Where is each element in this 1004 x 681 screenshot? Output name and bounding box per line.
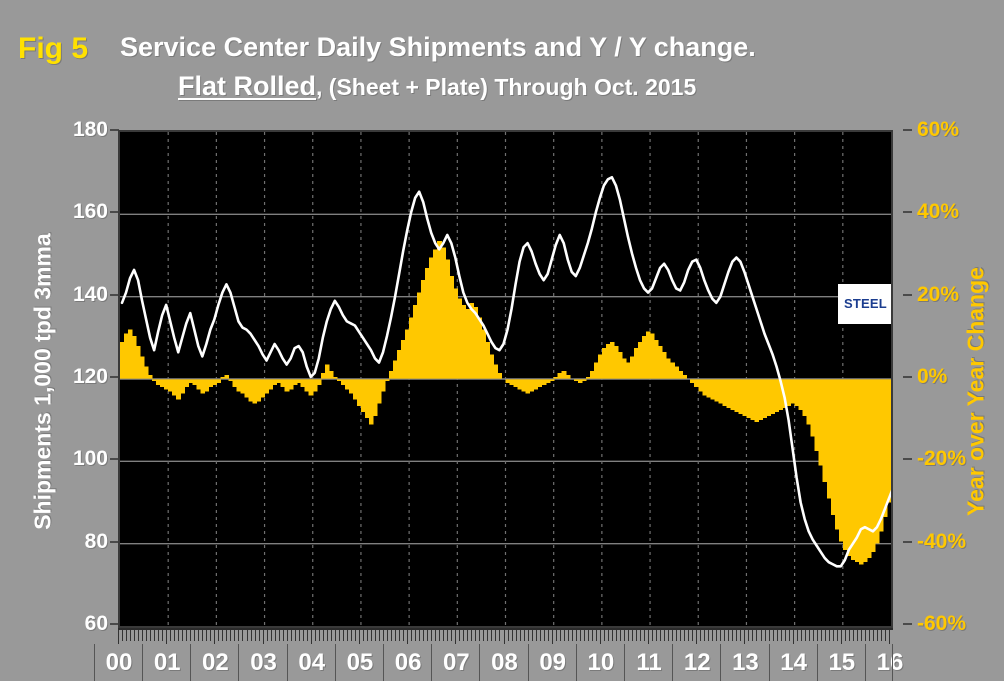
x-minor-tick xyxy=(251,630,252,641)
x-minor-tick xyxy=(447,630,448,641)
x-axis-rule xyxy=(118,628,893,630)
x-minor-tick xyxy=(628,630,629,641)
x-minor-tick xyxy=(479,630,480,641)
x-minor-tick xyxy=(170,630,171,641)
x-minor-tick xyxy=(451,630,452,641)
x-minor-tick xyxy=(684,630,685,641)
x-minor-tick xyxy=(704,630,705,641)
x-minor-tick xyxy=(335,630,336,641)
x-minor-tick xyxy=(174,630,175,641)
x-minor-tick xyxy=(881,630,882,641)
x-minor-tick xyxy=(443,630,444,641)
x-minor-tick xyxy=(186,630,187,641)
x-minor-tick xyxy=(692,630,693,641)
x-minor-tick xyxy=(399,630,400,641)
x-minor-tick xyxy=(712,630,713,641)
x-minor-tick xyxy=(234,630,235,641)
logo-word-steel: STEEL xyxy=(844,296,887,311)
x-tick-label-06: 06 xyxy=(383,644,432,681)
x-tick-label-10: 10 xyxy=(576,644,625,681)
x-minor-tick xyxy=(118,630,119,644)
x-minor-tick xyxy=(146,630,147,641)
right-tick--60pct: -60% xyxy=(917,613,966,634)
x-minor-tick xyxy=(644,630,645,641)
x-minor-tick xyxy=(877,630,878,641)
x-minor-tick xyxy=(130,630,131,641)
x-minor-tick xyxy=(315,630,316,641)
x-minor-tick xyxy=(435,630,436,641)
x-minor-tick xyxy=(150,630,151,641)
x-minor-tick xyxy=(632,630,633,641)
x-minor-tick xyxy=(495,630,496,641)
left-tick-140: 140 xyxy=(73,284,108,305)
x-minor-tick xyxy=(226,630,227,641)
right-tickmark xyxy=(903,294,912,296)
right-tickmark xyxy=(903,541,912,543)
x-minor-tick xyxy=(536,630,537,641)
x-minor-tick xyxy=(596,630,597,641)
x-minor-tick xyxy=(411,630,412,641)
x-minor-tick xyxy=(841,630,842,644)
x-minor-tick xyxy=(592,630,593,641)
x-minor-tick xyxy=(210,630,211,641)
x-minor-tick xyxy=(166,630,167,644)
x-minor-tick xyxy=(817,630,818,641)
x-minor-tick xyxy=(319,630,320,641)
right-tickmark xyxy=(903,211,912,213)
right-tick-0pct: 0% xyxy=(917,366,947,387)
x-minor-tick xyxy=(154,630,155,641)
x-tick-label-03: 03 xyxy=(238,644,287,681)
x-minor-tick xyxy=(773,630,774,641)
x-minor-tick xyxy=(676,630,677,641)
x-minor-tick xyxy=(367,630,368,641)
x-minor-tick xyxy=(600,630,601,644)
x-minor-tick xyxy=(190,630,191,641)
x-minor-tick xyxy=(680,630,681,641)
x-minor-tick xyxy=(299,630,300,641)
x-minor-tick xyxy=(275,630,276,641)
x-minor-tick xyxy=(238,630,239,641)
x-minor-tick xyxy=(865,630,866,641)
x-minor-tick xyxy=(777,630,778,641)
x-minor-tick xyxy=(833,630,834,641)
x-axis: 0001020304050607080910111213141516 xyxy=(118,628,893,681)
chart-subtitle-rest: , (Sheet + Plate) Through Oct. 2015 xyxy=(316,74,696,100)
x-axis-end-border xyxy=(892,644,893,681)
x-minor-tick xyxy=(660,630,661,641)
x-minor-tick xyxy=(138,630,139,641)
x-minor-tick xyxy=(740,630,741,641)
x-minor-tick xyxy=(343,630,344,641)
x-minor-tick xyxy=(431,630,432,641)
x-minor-tick xyxy=(608,630,609,641)
x-minor-tick xyxy=(516,630,517,641)
x-minor-tick xyxy=(724,630,725,641)
x-minor-tick xyxy=(126,630,127,641)
x-minor-tick xyxy=(279,630,280,641)
x-minor-tick xyxy=(255,630,256,641)
x-minor-tick xyxy=(391,630,392,641)
left-tick-100: 100 xyxy=(73,448,108,469)
x-tick-label-08: 08 xyxy=(479,644,528,681)
x-minor-tick xyxy=(198,630,199,641)
x-minor-tick xyxy=(247,630,248,641)
x-minor-tick xyxy=(271,630,272,641)
x-minor-tick xyxy=(504,630,505,644)
x-minor-tick xyxy=(162,630,163,641)
x-minor-tick xyxy=(395,630,396,641)
right-tick--40pct: -40% xyxy=(917,531,966,552)
x-minor-tick xyxy=(688,630,689,641)
x-minor-tick xyxy=(158,630,159,641)
x-minor-tick xyxy=(588,630,589,641)
x-minor-tick xyxy=(781,630,782,641)
x-minor-tick xyxy=(222,630,223,641)
x-tick-label-14: 14 xyxy=(769,644,818,681)
x-minor-tick xyxy=(242,630,243,641)
x-minor-tick xyxy=(419,630,420,641)
x-minor-tick xyxy=(202,630,203,641)
x-minor-tick xyxy=(548,630,549,641)
right-tick-20pct: 20% xyxy=(917,284,959,305)
x-minor-tick xyxy=(259,630,260,641)
x-minor-tick xyxy=(664,630,665,641)
x-minor-tick xyxy=(363,630,364,641)
plot-area: STEEL MARKET UPDATE Shipments 3MMA Y/Y C… xyxy=(118,130,893,628)
x-minor-tick xyxy=(552,630,553,644)
x-minor-tick xyxy=(303,630,304,641)
chart-subtitle-emphasis: Flat Rolled xyxy=(178,71,316,101)
x-minor-tick xyxy=(267,630,268,641)
x-minor-tick xyxy=(716,630,717,641)
x-minor-tick xyxy=(857,630,858,641)
title-block: Fig 5 Service Center Daily Shipments and… xyxy=(0,14,1004,100)
x-minor-tick xyxy=(853,630,854,641)
x-minor-tick xyxy=(861,630,862,641)
logo-text: STEEL MARKET UPDATE xyxy=(844,296,893,311)
x-minor-tick xyxy=(463,630,464,641)
x-minor-tick xyxy=(761,630,762,641)
chart-title-line-2: Flat Rolled, (Sheet + Plate) Through Oct… xyxy=(178,71,696,102)
x-minor-tick xyxy=(295,630,296,641)
x-minor-tick xyxy=(612,630,613,641)
x-minor-tick xyxy=(142,630,143,641)
x-minor-tick xyxy=(744,630,745,644)
x-minor-tick xyxy=(415,630,416,641)
x-minor-tick xyxy=(584,630,585,641)
right-tick-60pct: 60% xyxy=(917,119,959,140)
x-axis-minor-ticks xyxy=(118,628,893,644)
x-minor-tick xyxy=(218,630,219,641)
x-minor-tick xyxy=(797,630,798,641)
x-minor-tick xyxy=(283,630,284,641)
x-minor-tick xyxy=(889,630,890,644)
x-tick-label-15: 15 xyxy=(817,644,866,681)
x-minor-tick xyxy=(752,630,753,641)
x-axis-labels: 0001020304050607080910111213141516 xyxy=(118,644,893,681)
x-minor-tick xyxy=(845,630,846,641)
x-minor-tick xyxy=(624,630,625,641)
left-axis-ticks: 1801601401201008060 xyxy=(30,0,108,681)
x-minor-tick xyxy=(491,630,492,641)
x-minor-tick xyxy=(182,630,183,641)
x-minor-tick xyxy=(560,630,561,641)
x-minor-tick xyxy=(471,630,472,641)
x-minor-tick xyxy=(467,630,468,641)
x-minor-tick xyxy=(375,630,376,641)
x-minor-tick xyxy=(323,630,324,641)
x-minor-tick xyxy=(178,630,179,641)
x-minor-tick xyxy=(387,630,388,641)
x-tick-label-12: 12 xyxy=(672,644,721,681)
x-minor-tick xyxy=(483,630,484,641)
x-minor-tick xyxy=(230,630,231,641)
x-minor-tick xyxy=(732,630,733,641)
x-minor-tick xyxy=(728,630,729,641)
x-minor-tick xyxy=(407,630,408,644)
x-minor-tick xyxy=(616,630,617,641)
x-minor-tick xyxy=(355,630,356,641)
x-minor-tick xyxy=(524,630,525,641)
plot-canvas xyxy=(120,132,891,626)
x-minor-tick xyxy=(339,630,340,641)
x-minor-tick xyxy=(459,630,460,641)
x-minor-tick xyxy=(813,630,814,641)
x-minor-tick xyxy=(508,630,509,641)
x-minor-tick xyxy=(636,630,637,641)
x-minor-tick xyxy=(700,630,701,641)
x-minor-tick xyxy=(849,630,850,641)
left-tick-120: 120 xyxy=(73,366,108,387)
right-tickmark xyxy=(903,458,912,460)
x-minor-tick xyxy=(499,630,500,641)
x-minor-tick xyxy=(311,630,312,644)
x-minor-tick xyxy=(371,630,372,641)
x-minor-tick xyxy=(869,630,870,641)
x-minor-tick xyxy=(652,630,653,641)
x-minor-tick xyxy=(604,630,605,641)
x-minor-tick xyxy=(347,630,348,641)
chart-figure: Fig 5 Service Center Daily Shipments and… xyxy=(0,0,1004,681)
x-minor-tick xyxy=(809,630,810,641)
x-minor-tick xyxy=(620,630,621,641)
x-minor-tick xyxy=(544,630,545,641)
x-minor-tick xyxy=(263,630,264,644)
x-tick-label-16: 16 xyxy=(865,644,914,681)
x-minor-tick xyxy=(568,630,569,641)
x-minor-tick xyxy=(307,630,308,641)
x-tick-label-05: 05 xyxy=(335,644,384,681)
x-minor-tick xyxy=(805,630,806,641)
x-minor-tick xyxy=(379,630,380,641)
x-tick-label-01: 01 xyxy=(142,644,191,681)
x-minor-tick xyxy=(359,630,360,644)
right-tickmark xyxy=(903,623,912,625)
x-minor-tick xyxy=(801,630,802,641)
x-minor-tick xyxy=(696,630,697,644)
x-minor-tick xyxy=(423,630,424,641)
x-minor-tick xyxy=(748,630,749,641)
x-minor-tick xyxy=(427,630,428,641)
x-minor-tick xyxy=(122,630,123,641)
x-minor-tick xyxy=(512,630,513,641)
x-minor-tick xyxy=(564,630,565,641)
x-minor-tick xyxy=(475,630,476,641)
x-minor-tick xyxy=(487,630,488,641)
x-minor-tick xyxy=(648,630,649,644)
x-minor-tick xyxy=(291,630,292,641)
x-minor-tick xyxy=(720,630,721,641)
x-minor-tick xyxy=(403,630,404,641)
x-minor-tick xyxy=(765,630,766,641)
chart-title-line-1: Service Center Daily Shipments and Y / Y… xyxy=(120,32,756,63)
x-minor-tick xyxy=(769,630,770,641)
x-tick-label-07: 07 xyxy=(431,644,480,681)
left-tick-80: 80 xyxy=(85,531,108,552)
right-tick-40pct: 40% xyxy=(917,201,959,222)
x-minor-tick xyxy=(520,630,521,641)
right-axis-ticks: 60%40%20%0%-20%-40%-60% xyxy=(903,0,993,681)
x-minor-tick xyxy=(580,630,581,641)
x-minor-tick xyxy=(640,630,641,641)
x-tick-label-02: 02 xyxy=(190,644,239,681)
x-minor-tick xyxy=(532,630,533,641)
x-minor-tick xyxy=(287,630,288,641)
x-minor-tick xyxy=(540,630,541,641)
x-minor-tick xyxy=(873,630,874,641)
x-minor-tick xyxy=(576,630,577,641)
x-minor-tick xyxy=(793,630,794,644)
left-tick-180: 180 xyxy=(73,119,108,140)
x-minor-tick xyxy=(789,630,790,641)
x-minor-tick xyxy=(331,630,332,641)
right-tickmark xyxy=(903,129,912,131)
x-minor-tick xyxy=(439,630,440,641)
left-tick-60: 60 xyxy=(85,613,108,634)
x-minor-tick xyxy=(837,630,838,641)
x-minor-tick xyxy=(556,630,557,641)
x-minor-tick xyxy=(528,630,529,641)
x-minor-tick xyxy=(206,630,207,641)
x-minor-tick xyxy=(455,630,456,644)
x-minor-tick xyxy=(885,630,886,641)
x-tick-label-13: 13 xyxy=(720,644,769,681)
x-tick-label-04: 04 xyxy=(287,644,336,681)
x-minor-tick xyxy=(825,630,826,641)
x-minor-tick xyxy=(672,630,673,641)
x-minor-tick xyxy=(708,630,709,641)
x-minor-tick xyxy=(383,630,384,641)
steel-market-update-logo: STEEL MARKET UPDATE xyxy=(838,284,893,324)
x-tick-label-09: 09 xyxy=(528,644,577,681)
x-minor-tick xyxy=(668,630,669,641)
x-minor-tick xyxy=(194,630,195,641)
x-minor-tick xyxy=(134,630,135,641)
x-minor-tick xyxy=(351,630,352,641)
x-minor-tick xyxy=(572,630,573,641)
x-minor-tick xyxy=(785,630,786,641)
right-tick--20pct: -20% xyxy=(917,448,966,469)
x-minor-tick xyxy=(756,630,757,641)
x-minor-tick xyxy=(214,630,215,644)
x-minor-tick xyxy=(656,630,657,641)
x-minor-tick xyxy=(736,630,737,641)
x-tick-label-11: 11 xyxy=(624,644,673,681)
x-minor-tick xyxy=(327,630,328,641)
x-tick-label-00: 00 xyxy=(94,644,143,681)
right-tickmark xyxy=(903,376,912,378)
x-minor-tick xyxy=(821,630,822,641)
x-minor-tick xyxy=(829,630,830,641)
left-tick-160: 160 xyxy=(73,201,108,222)
